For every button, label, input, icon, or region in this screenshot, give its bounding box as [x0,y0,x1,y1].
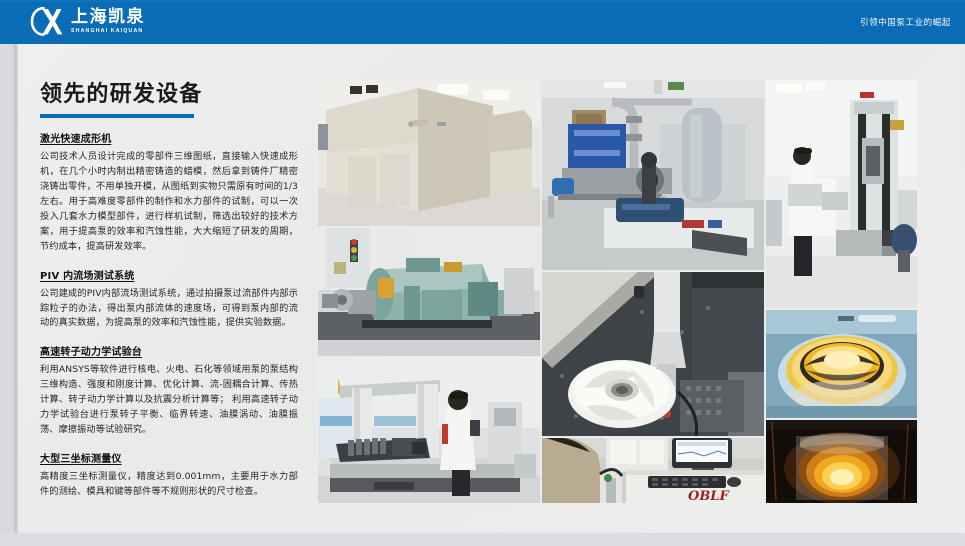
section-body: 公司建成的PIV内部流场测试系统，通过拍摄泵过流部件内部示踪粒子的办法，得出泵内… [40,287,298,332]
header-tagline: 引领中国泵工业的崛起 [860,0,951,44]
photo-oblf-spectrometer[interactable]: OBLF [542,438,764,503]
photo-rotor-dynamics-bench[interactable] [318,228,540,356]
page-title: 领先的研发设备 [40,82,298,107]
section-heading: 高速转子动力学试验台 [40,345,298,360]
section-body: 利用ANSYS等软件进行核电、火电、石化等领域用泵的泵结构三维构造、强度和刚度计… [40,363,298,438]
section-high-speed-rotor-dynamics-test-bench: 高速转子动力学试验台 利用ANSYS等软件进行核电、火电、石化等领域用泵的泵结构… [40,345,298,438]
photo-piv-test-rig[interactable] [542,80,764,270]
photo-molten-metal-crucible-top[interactable] [766,310,917,418]
kaiquan-k-monogram-icon [30,6,64,38]
brand-name-en: SHANGHAI KAIQUAN [71,29,146,34]
svg-text:OBLF: OBLF [688,489,729,503]
site-header: 上海凯泉 SHANGHAI KAIQUAN 引领中国泵工业的崛起 [0,0,965,44]
header-top-line [0,0,965,2]
photo-laser-sintering-machines[interactable] [318,80,540,226]
section-large-cmm: 大型三坐标测量仪 高精度三坐标测量仪，精度达到0.001mm，主要用于水力部件的… [40,452,298,500]
photo-cmm-impeller-scan[interactable] [542,272,764,436]
section-heading: 激光快速成形机 [40,132,298,147]
content-text-column: 领先的研发设备 激光快速成形机 公司技术人员设计完成的零部件三维图纸，直接输入快… [40,82,298,500]
photo-universal-testing-machine[interactable] [766,80,917,308]
photo-cmm-gantry-inspection[interactable] [318,358,540,503]
section-laser-rapid-prototyping: 激光快速成形机 公司技术人员设计完成的零部件三维图纸，直接输入快速成形机，在几个… [40,132,298,254]
section-body: 公司技术人员设计完成的零部件三维图纸，直接输入快速成形机，在几个小时内制出精密铸… [40,150,298,254]
brand-logo[interactable]: 上海凯泉 SHANGHAI KAIQUAN [30,6,145,38]
section-heading: 大型三坐标测量仪 [40,452,298,467]
brand-logo-text: 上海凯泉 SHANGHAI KAIQUAN [71,9,145,34]
section-body: 高精度三坐标测量仪，精度达到0.001mm，主要用于水力部件的测绘、模具和键等部… [40,470,298,500]
brand-name-cn: 上海凯泉 [71,9,145,26]
photo-furnace-glow[interactable] [766,420,917,503]
equipment-photo-gallery: OBLF [318,80,917,503]
page-bottom-strip [0,533,965,546]
page-title-underline [40,114,194,118]
section-piv-flow-field-test-system: PIV 内流场测试系统 公司建成的PIV内部流场测试系统，通过拍摄泵过流部件内部… [40,269,298,332]
slide-root: 上海凯泉 SHANGHAI KAIQUAN 引领中国泵工业的崛起 领先的研发设备… [0,0,965,546]
section-heading: PIV 内流场测试系统 [40,269,298,284]
